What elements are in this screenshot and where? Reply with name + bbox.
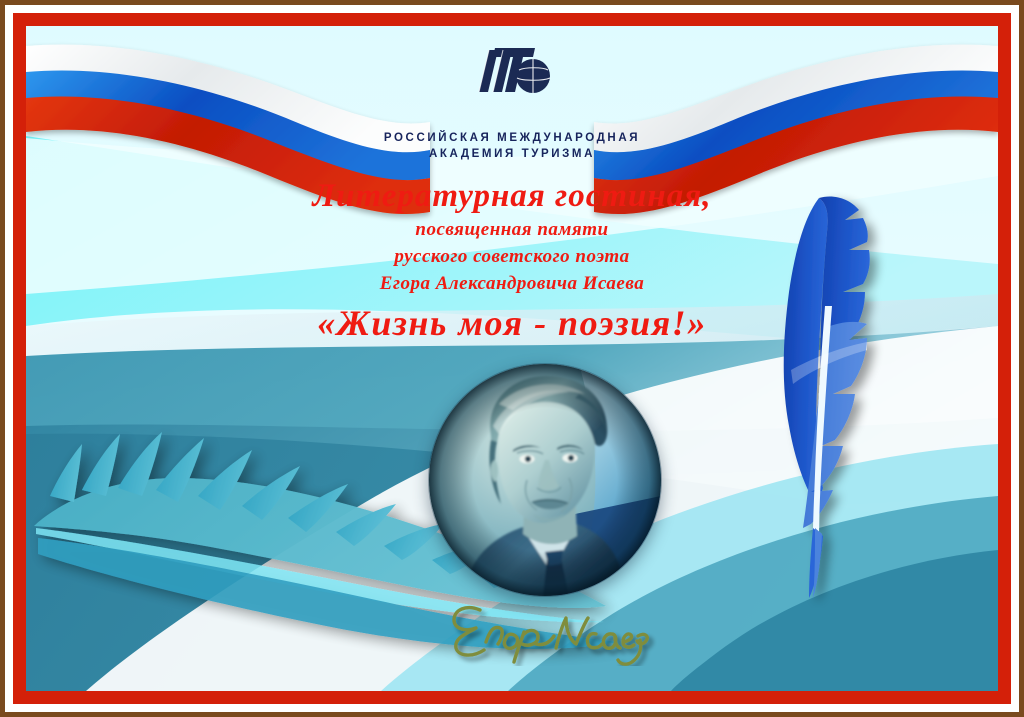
portrait-egor-isaev xyxy=(429,364,661,596)
title-sub-line-2: русского советского поэта xyxy=(0,243,1024,270)
title-main: Литературная гостиная, xyxy=(0,176,1024,216)
organization-name: РОССИЙСКАЯ МЕЖДУНАРОДНАЯ АКАДЕМИЯ ТУРИЗМ… xyxy=(0,130,1024,162)
organization-line-1: РОССИЙСКАЯ МЕЖДУНАРОДНАЯ xyxy=(0,130,1024,146)
title-block: Литературная гостиная, посвященная памят… xyxy=(0,176,1024,347)
title-quote: «Жизнь моя - поэзия!» xyxy=(0,299,1024,347)
rmat-logo-icon xyxy=(473,40,553,102)
title-sub-line-3: Егора Александровича Исаева xyxy=(0,270,1024,297)
poster-canvas: РОССИЙСКАЯ МЕЖДУНАРОДНАЯ АКАДЕМИЯ ТУРИЗМ… xyxy=(0,0,1024,717)
signature-egor-isaev xyxy=(440,596,660,666)
title-sub-line-1: посвященная памяти xyxy=(0,216,1024,243)
organization-line-2: АКАДЕМИЯ ТУРИЗМА xyxy=(0,146,1024,162)
